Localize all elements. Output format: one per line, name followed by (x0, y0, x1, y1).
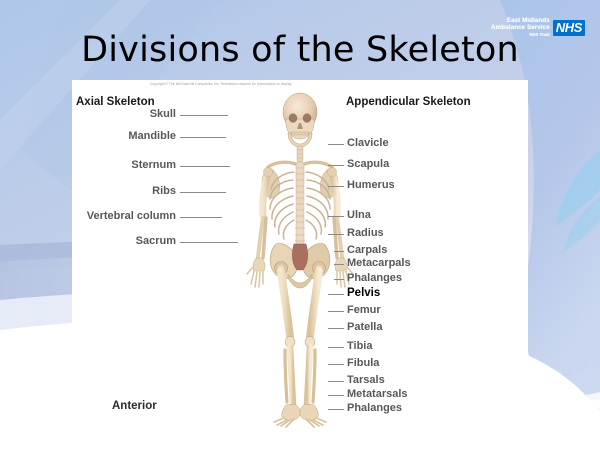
anatomy-label-radius: Radius (347, 227, 384, 239)
leader-line (180, 242, 238, 243)
axial-skeleton-heading: Axial Skeleton (76, 96, 155, 108)
leader-line (328, 186, 344, 187)
leader-line (328, 395, 344, 396)
page-title: Divisions of the Skeleton (0, 30, 600, 70)
anatomy-label-mandible: Mandible (128, 130, 176, 142)
leader-line (328, 328, 344, 329)
leader-line (334, 279, 344, 280)
leader-line (328, 216, 344, 217)
leader-line (328, 364, 344, 365)
leader-line (328, 409, 344, 410)
anatomy-label-fibula: Fibula (347, 357, 379, 369)
leader-line (328, 311, 344, 312)
anatomy-label-carpals: Carpals (347, 244, 387, 256)
anatomy-label-vertebral-column: Vertebral column (87, 210, 176, 222)
anatomy-label-skull: Skull (150, 108, 176, 120)
anatomy-label-metatarsals: Metatarsals (347, 388, 408, 400)
anatomy-label-patella: Patella (347, 321, 382, 333)
leader-line (180, 192, 226, 193)
foot-group (274, 404, 326, 427)
leader-line (334, 264, 344, 265)
anatomy-label-humerus: Humerus (347, 179, 395, 191)
sacrum-bone (292, 244, 307, 270)
leader-line (334, 251, 344, 252)
anatomy-label-scapula: Scapula (347, 158, 389, 170)
leader-line (180, 115, 228, 116)
leader-line (328, 294, 344, 295)
anatomy-label-pelvis: Pelvis (347, 287, 380, 299)
anatomy-label-sternum: Sternum (131, 159, 176, 171)
femur-group (277, 264, 323, 338)
leader-line (328, 381, 344, 382)
skull-group (283, 93, 317, 147)
copyright-notice: Copyright © The McGraw-Hill Companies, I… (150, 82, 292, 86)
slide: East Midlands Ambulance Service NHS Trus… (0, 0, 600, 450)
leader-line (180, 166, 230, 167)
anatomy-label-ulna: Ulna (347, 209, 371, 221)
leader-line (328, 347, 344, 348)
lower-leg-group (285, 347, 315, 404)
leader-line (328, 144, 344, 145)
vertebral-column (295, 162, 305, 246)
anatomy-label-clavicle: Clavicle (347, 137, 389, 149)
anatomy-label-sacrum: Sacrum (136, 235, 176, 247)
cervical-spine (297, 146, 303, 162)
leader-line (328, 165, 344, 166)
anatomy-label-metacarpals: Metacarpals (347, 257, 411, 269)
anatomy-label-tarsals: Tarsals (347, 374, 385, 386)
leader-line (180, 217, 222, 218)
leader-line (180, 137, 226, 138)
anatomy-label-phalanges: Phalanges (347, 272, 402, 284)
skeleton-figure-panel: Copyright © The McGraw-Hill Companies, I… (72, 80, 528, 432)
anatomy-label-tibia: Tibia (347, 340, 372, 352)
leader-line (328, 234, 344, 235)
anatomy-label-ribs: Ribs (152, 185, 176, 197)
orientation-label: Anterior (112, 400, 157, 412)
anatomy-label-phalanges: Phalanges (347, 402, 402, 414)
anatomy-label-femur: Femur (347, 304, 381, 316)
